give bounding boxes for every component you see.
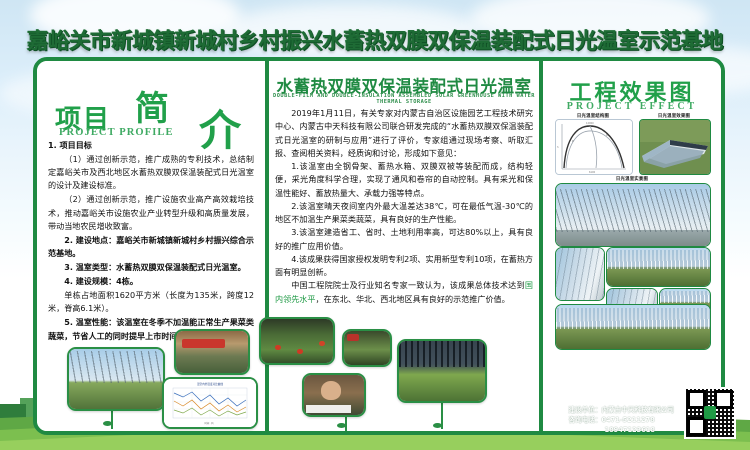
profile-para: （2）通过创新示范，推广设施农业高产高效栽培技术，推动嘉峪关市设施农业产业转型升… [48,193,254,232]
svg-text:时间（h）: 时间（h） [204,421,215,425]
qr-eye [687,417,706,436]
phone-line: 咨询电话：0471-5211278 [569,416,675,426]
qr-code[interactable] [684,387,736,439]
collage-photo-crops [342,329,392,367]
profile-para: 4. 建设规模：4栋。 [48,275,254,288]
profile-para: 1. 项目目标 [48,139,254,152]
leaf-decoration [337,423,346,428]
poster-board: 嘉峪关市新城镇新城村乡村振兴水蓄热双膜双保温装配式日光温室示范基地 项目 简 介… [0,0,750,450]
conclusion-text-a: 中国工程院院士及行业知名专家一致认为，该成果总体技术达到 [291,280,525,290]
greenhouse-photo-interior [555,247,605,301]
collage-photo-seedlings [397,339,487,403]
middle-title-en: DOUBLE-FILM AND DOUBLE-INSULATION ASSEMB… [269,93,539,105]
collage-photo-greenhouse-row [67,347,165,411]
builder-line: 建设单位：内蒙古中天科技有限公司 [569,406,675,416]
middle-para-2: 2.该温室晴天夜间室内外最大温差达38℃，可在最低气温-30℃的地区不加温生产果… [275,200,533,227]
qr-eye [687,390,706,409]
profile-para: （1）通过创新示范，推广成熟的专利技术，总结制定嘉峪关市及西北地区水蓄热双膜双保… [48,153,254,192]
qr-eye [714,390,733,409]
mobile-line: 18947123618 [569,426,675,436]
middle-para-intro: 2019年1月11日，有关专家对内蒙古自治区设施园艺工程技术研究中心、内蒙古中天… [275,107,533,160]
project-profile-header: 项目 简 介 PROJECT PROFILE [47,75,257,137]
greenhouse-structure-diagram: 12000RR 6100h [555,119,633,175]
greenhouse-photo-field [555,304,711,350]
svg-text:6100: 6100 [589,171,596,174]
project-effect-title-en: PROJECT EFFECT [543,101,721,112]
collage-temperature-chart: 温室内外温度对比曲线 时间（h） [162,377,258,429]
svg-text:温室内外温度对比曲线: 温室内外温度对比曲线 [197,382,223,386]
leaf-decoration [103,421,112,426]
middle-para-4: 4.该成果获得国家授权发明专利2项、实用新型专利10项，在蓄热方面有明显创新。 [275,253,533,280]
collage-photo-tomatoes [259,317,335,365]
structure-sketch-svg: 12000RR 6100h [556,120,632,174]
greenhouse-render-image [639,119,711,175]
profile-para: 3. 温室类型：水蓄热双膜双保温装配式日光温室。 [48,261,254,274]
contact-info: 建设单位：内蒙古中天科技有限公司 咨询电话：0471-5211278 18947… [569,406,675,436]
project-profile-title-en: PROJECT PROFILE [59,127,174,138]
greenhouse-photo-large [555,183,711,247]
profile-para: 2. 建设地点：嘉峪关市新城镇新城村乡村振兴综合示范基地。 [48,234,254,260]
greenhouse-photo-exterior [606,247,711,287]
collage-photo-visitors [174,329,250,375]
middle-body: 2019年1月11日，有关专家对内蒙古自治区设施园艺工程技术研究中心、内蒙古中天… [275,107,533,306]
poster-title: 嘉峪关市新城镇新城村乡村振兴水蓄热双膜双保温装配式日光温室示范基地 [0,24,750,55]
content-frame: 项目 简 介 PROJECT PROFILE 1. 项目目标 （1）通过创新示范… [33,57,725,435]
middle-para-1: 1.该温室由全钢骨架、蓄热水箱、双膜双被等装配而成，结构轻便，采光角度科学合理，… [275,160,533,200]
project-profile-title-cn-large: 简 [135,81,167,130]
conclusion-text-b: ，在东北、华北、西北地区具有良好的示范推广价值。 [315,294,509,304]
middle-para-3: 3.该温室建造省工、省时、土地利用率高，可达80%以上，具有良好的推广应用价值。 [275,226,533,253]
photo-collage: 温室内外温度对比曲线 时间（h） [37,311,543,431]
leaf-decoration [433,423,442,428]
right-content: 工程效果图 PROJECT EFFECT 日光温室结构图 日光温室效果图 日光温… [543,61,721,431]
collage-photo-interview [302,373,366,417]
svg-text:12000: 12000 [586,122,594,125]
caption-photo: 日光温室实景图 [555,176,709,182]
temperature-chart-svg: 温室内外温度对比曲线 时间（h） [164,379,256,427]
middle-para-conclusion: 中国工程院院士及行业知名专家一致认为，该成果总体技术达到国内领先水平，在东北、华… [275,279,533,306]
render-svg [640,120,710,174]
